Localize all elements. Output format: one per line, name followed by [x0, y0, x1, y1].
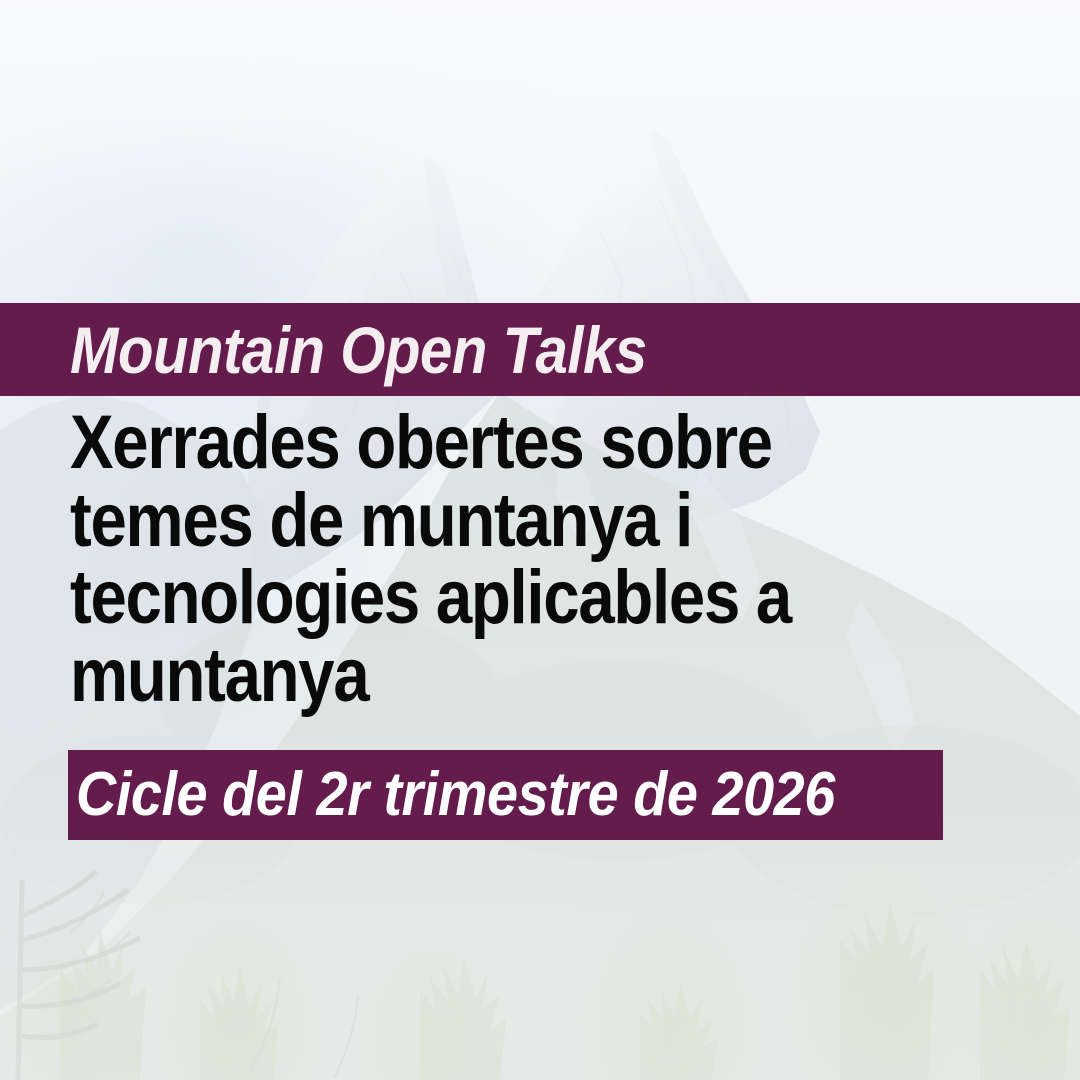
subtitle-banner: Cicle del 2r trimestre de 2026 — [68, 750, 943, 840]
brand-title: Mountain Open Talks — [70, 317, 647, 383]
page-title: Xerrades obertes sobre temes de muntanya… — [70, 404, 844, 714]
headline-line-3: tecnologies aplicables a — [70, 559, 844, 637]
poster-canvas: Mountain Open Talks Xerrades obertes sob… — [0, 0, 1080, 1080]
headline-line-4: muntanya — [70, 637, 844, 715]
headline-line-2: temes de muntanya i — [70, 482, 844, 560]
brand-banner: Mountain Open Talks — [0, 303, 1080, 396]
headline-line-1: Xerrades obertes sobre — [70, 404, 844, 482]
subtitle-text: Cicle del 2r trimestre de 2026 — [76, 764, 835, 826]
poster-content: Mountain Open Talks Xerrades obertes sob… — [0, 0, 1080, 1080]
